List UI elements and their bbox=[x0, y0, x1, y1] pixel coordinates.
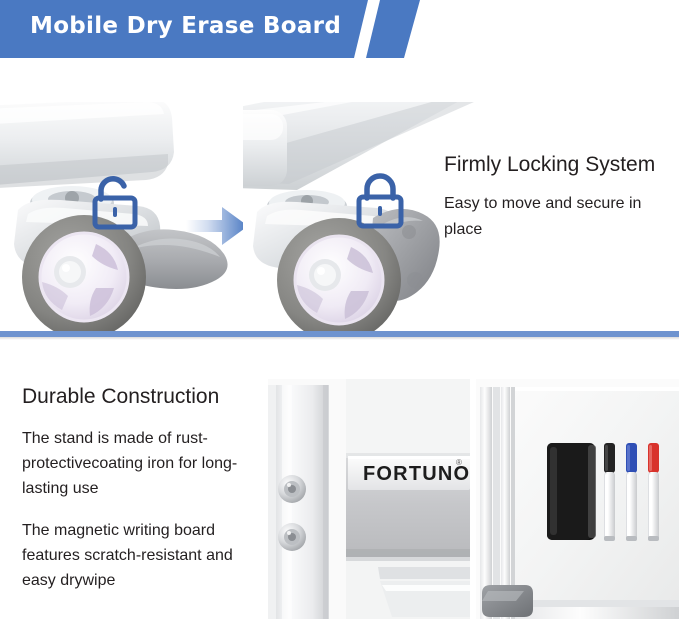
padlock-open-icon bbox=[88, 172, 144, 234]
svg-text:®: ® bbox=[456, 458, 462, 467]
locking-heading: Firmly Locking System bbox=[444, 152, 679, 177]
stand-frame-brand-photo: FORTUNO ® bbox=[268, 379, 470, 619]
durable-text-block: Durable Construction The stand is made o… bbox=[22, 385, 262, 594]
page-title: Mobile Dry Erase Board bbox=[30, 13, 341, 39]
whiteboard-accessories-photo bbox=[476, 379, 679, 619]
brand-label-text: FORTUNO bbox=[363, 463, 470, 485]
durable-body-stand: The stand is made of rust-protectivecoat… bbox=[22, 427, 262, 501]
marker-blue bbox=[626, 443, 637, 541]
section-firmly-locking: Firmly Locking System Easy to move and s… bbox=[0, 60, 679, 331]
durable-body-board: The magnetic writing board features scra… bbox=[22, 519, 262, 593]
right-arrow-icon bbox=[186, 203, 248, 249]
screw-bolt-icon bbox=[278, 523, 306, 551]
section-durable-construction: Durable Construction The stand is made o… bbox=[0, 340, 679, 619]
locking-text-block: Firmly Locking System Easy to move and s… bbox=[444, 152, 679, 243]
magnetic-eraser-icon bbox=[547, 443, 596, 540]
locking-body: Easy to move and secure in place bbox=[444, 191, 679, 243]
marker-red bbox=[648, 443, 659, 541]
padlock-closed-icon bbox=[353, 170, 409, 232]
stand-frame-illustration: FORTUNO ® bbox=[268, 379, 470, 619]
marker-black bbox=[604, 443, 615, 541]
durable-heading: Durable Construction bbox=[22, 385, 262, 409]
whiteboard-illustration bbox=[476, 379, 679, 619]
screw-bolt-icon bbox=[278, 475, 306, 503]
header-banner: Mobile Dry Erase Board bbox=[0, 0, 679, 60]
